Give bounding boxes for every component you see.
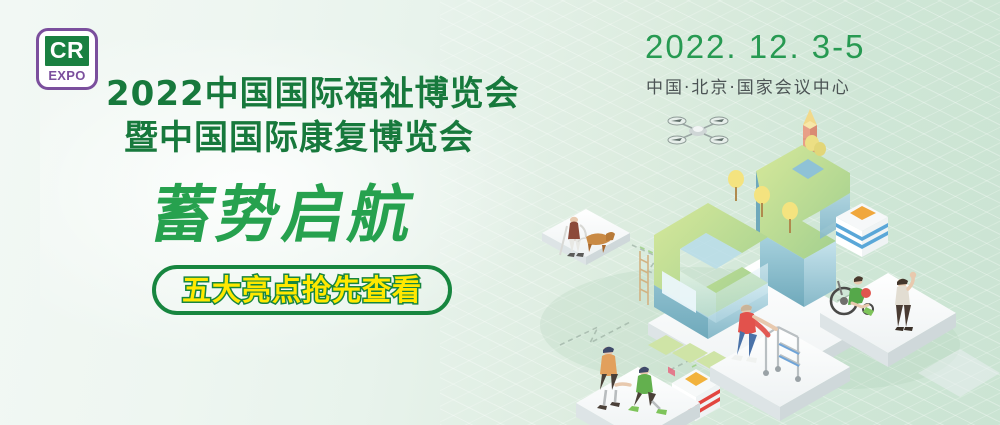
- event-date: 2022. 12. 3-5: [645, 28, 866, 66]
- drone: [668, 117, 728, 144]
- promo-banner: CR EXPO 2022中国国际福祉博览会 暨中国国际康复博览会 蓄势启航 五大…: [0, 0, 1000, 425]
- highlights-cta-button[interactable]: 五大亮点抢先查看: [152, 265, 452, 315]
- logo-mark-text: CR: [45, 36, 89, 66]
- cr-expo-logo[interactable]: CR EXPO: [36, 28, 98, 90]
- cta-label: 五大亮点抢先查看: [182, 276, 422, 305]
- headline-line-2: 暨中国国际康复博览会: [124, 118, 474, 158]
- logo-sub-text: EXPO: [48, 69, 85, 82]
- letter-r-3d: [756, 145, 850, 307]
- isometric-illustration: [520, 95, 1000, 425]
- headline-line-1: 2022中国国际福祉博览会: [106, 74, 520, 114]
- slogan-text: 蓄势启航: [145, 180, 423, 250]
